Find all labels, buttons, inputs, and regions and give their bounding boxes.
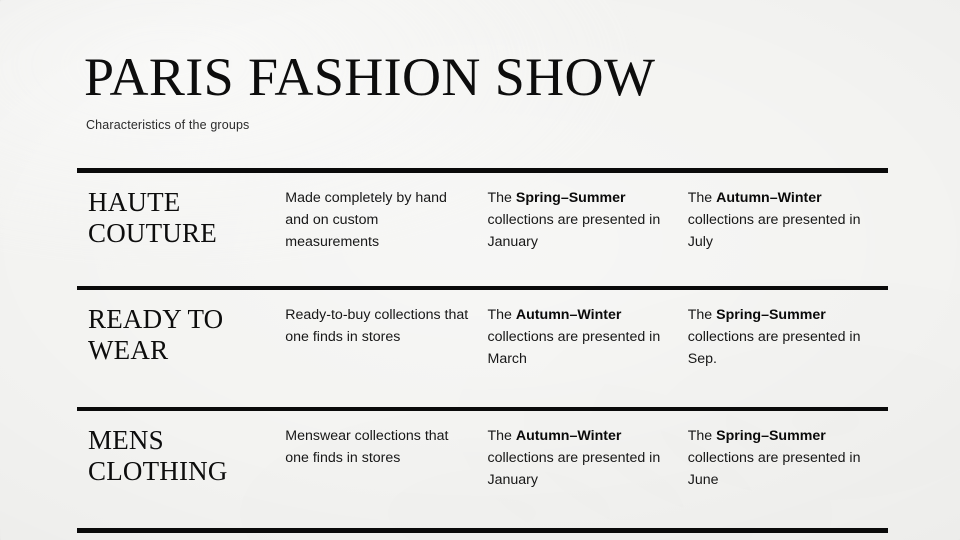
season-suffix: collections are presented in June	[688, 450, 861, 488]
season-prefix: The	[688, 190, 716, 206]
row-season-b-text: The Spring–Summer collections are presen…	[688, 307, 861, 367]
season-prefix: The	[688, 428, 716, 444]
season-name: Spring–Summer	[716, 307, 826, 323]
season-name: Spring–Summer	[716, 428, 826, 444]
row-description-text: Menswear collections that one finds in s…	[285, 428, 448, 466]
row-description-cell: Ready-to-buy collections that one finds …	[285, 304, 487, 348]
row-label-mens-clothing: MENS CLOTHING	[77, 425, 285, 487]
season-name: Autumn–Winter	[516, 307, 622, 323]
row-season-b-cell: The Spring–Summer collections are presen…	[688, 425, 888, 491]
season-suffix: collections are presented in July	[688, 212, 861, 250]
row-season-b-text: The Autumn–Winter collections are presen…	[688, 190, 861, 250]
row-season-b-cell: The Spring–Summer collections are presen…	[688, 304, 888, 370]
row-season-a-text: The Autumn–Winter collections are presen…	[488, 428, 661, 488]
season-prefix: The	[488, 307, 516, 323]
season-suffix: collections are presented in January	[488, 450, 661, 488]
row-season-b-cell: The Autumn–Winter collections are presen…	[688, 187, 888, 253]
season-prefix: The	[488, 190, 516, 206]
characteristics-table: HAUTE COUTURE Made completely by hand an…	[77, 168, 888, 533]
table-row: HAUTE COUTURE Made completely by hand an…	[77, 173, 888, 286]
table-rule-bottom	[77, 528, 888, 533]
row-season-b-text: The Spring–Summer collections are presen…	[688, 428, 861, 488]
row-season-a-text: The Autumn–Winter collections are presen…	[488, 307, 661, 367]
table-row: MENS CLOTHING Menswear collections that …	[77, 411, 888, 528]
season-suffix: collections are presented in January	[488, 212, 661, 250]
row-season-a-cell: The Autumn–Winter collections are presen…	[488, 425, 688, 491]
row-description-cell: Menswear collections that one finds in s…	[285, 425, 487, 469]
season-name: Autumn–Winter	[716, 190, 822, 206]
season-prefix: The	[488, 428, 516, 444]
row-season-a-cell: The Spring–Summer collections are presen…	[488, 187, 688, 253]
row-description-text: Ready-to-buy collections that one finds …	[285, 307, 468, 345]
row-description-cell: Made completely by hand and on custom me…	[285, 187, 487, 253]
row-season-a-cell: The Autumn–Winter collections are presen…	[488, 304, 688, 370]
row-description-text: Made completely by hand and on custom me…	[285, 190, 447, 250]
table-row: READY TO WEAR Ready-to-buy collections t…	[77, 290, 888, 407]
row-label-haute-couture: HAUTE COUTURE	[77, 187, 285, 249]
season-name: Spring–Summer	[516, 190, 626, 206]
page-subtitle: Characteristics of the groups	[86, 118, 249, 132]
season-suffix: collections are presented in Sep.	[688, 329, 861, 367]
row-label-ready-to-wear: READY TO WEAR	[77, 304, 285, 366]
season-suffix: collections are presented in March	[488, 329, 661, 367]
row-season-a-text: The Spring–Summer collections are presen…	[488, 190, 661, 250]
page-title: PARIS FASHION SHOW	[84, 50, 655, 104]
season-prefix: The	[688, 307, 716, 323]
season-name: Autumn–Winter	[516, 428, 622, 444]
slide-canvas: PARIS FASHION SHOW Characteristics of th…	[0, 0, 960, 540]
